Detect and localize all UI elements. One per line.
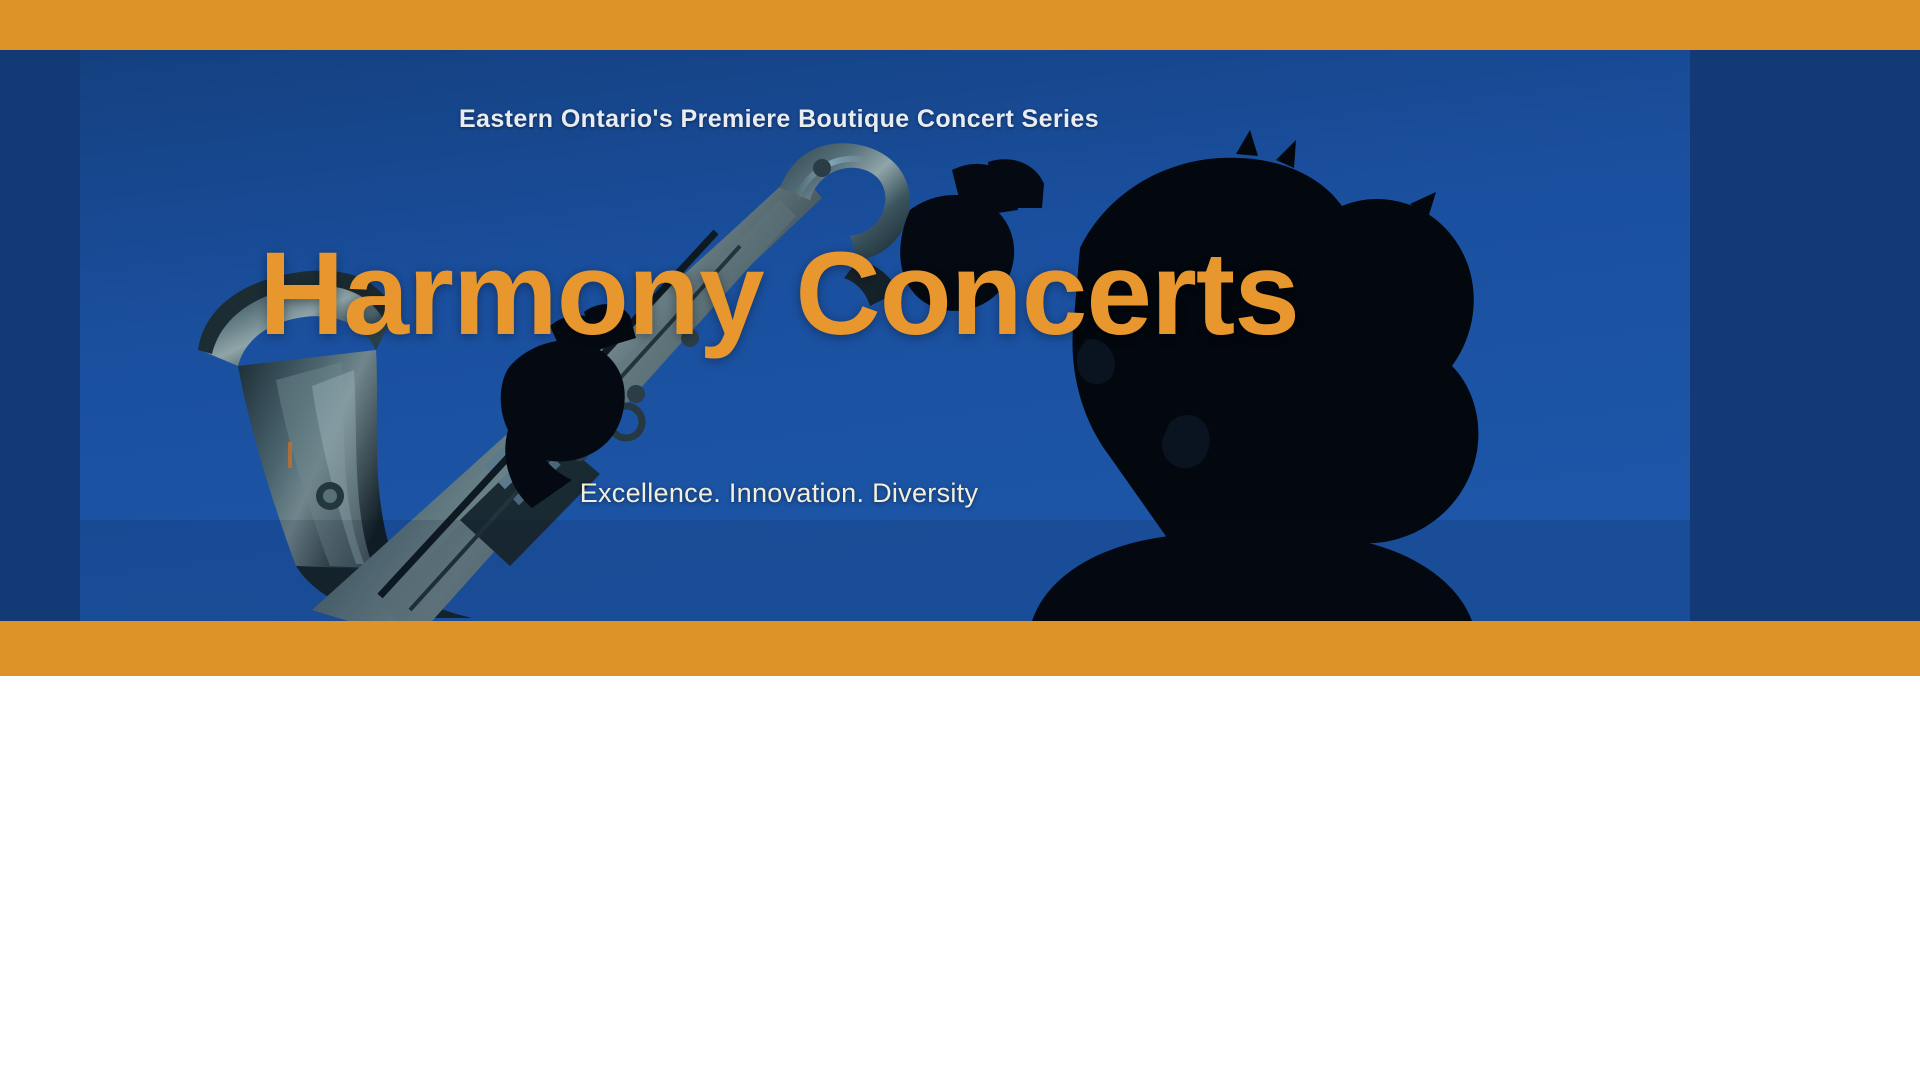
hero-banner: Eastern Ontario's Premiere Boutique Conc… xyxy=(0,50,1920,621)
bottom-accent-bar xyxy=(0,621,1920,676)
page-title: Harmony Concerts xyxy=(0,235,1558,353)
hero-eyebrow: Eastern Ontario's Premiere Boutique Conc… xyxy=(0,105,1558,134)
page-body xyxy=(0,676,1920,1080)
top-accent-bar xyxy=(0,0,1920,50)
hero-tagline: Excellence. Innovation. Diversity xyxy=(0,478,1558,509)
